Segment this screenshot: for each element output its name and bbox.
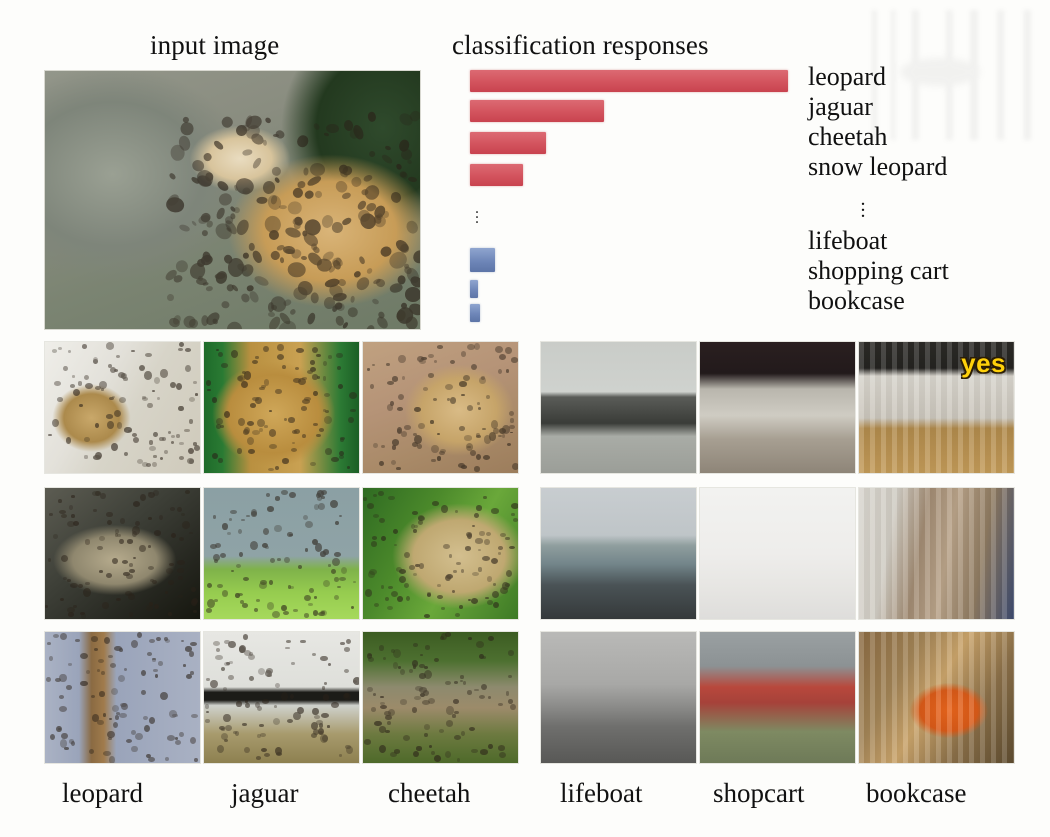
thumbnail-submarine-in-garage: [540, 341, 697, 474]
bar-cheetah: [470, 132, 546, 154]
class-label-cheetah: cheetah: [808, 122, 1048, 152]
class-label-bookcase: bookcase: [808, 286, 1048, 316]
thumbnail-bookcase-with-yes-sign: yes: [858, 341, 1015, 474]
bottom-caption-lifeboat: lifeboat: [560, 778, 642, 809]
thumbnail-jaguar-in-green-foliage: [203, 341, 360, 474]
class-label-lifeboat: lifeboat: [808, 226, 1048, 256]
thumbnail-cheetah-face-close-up: [362, 487, 519, 620]
thumbnail-tall-white-bookshelf: [858, 487, 1015, 620]
thumbnail-grey-boat-on-water: [540, 631, 697, 764]
class-label-leopard: leopard: [808, 62, 1048, 92]
figure-root: input image classification responses ...…: [0, 0, 1050, 837]
thumbnail-cheetah-pair-on-sand: [362, 341, 519, 474]
thumbnail-white-shopping-cart: [699, 487, 856, 620]
spot-texture: [363, 342, 518, 473]
bar-leopard: [470, 70, 788, 92]
thumbnail-leopard-on-tree-trunk: [44, 631, 201, 764]
spot-texture: [45, 632, 200, 763]
classification-bar-chart: [470, 62, 810, 322]
thumbnail-leopard-on-dark-rock: [44, 487, 201, 620]
class-label-column: leopardjaguarcheetahsnow leopard...lifeb…: [808, 62, 1048, 316]
bar-shopping-cart: [470, 280, 478, 298]
spot-texture: [45, 342, 200, 473]
class-label-ellipsis: ...: [808, 196, 918, 214]
input-image-photo: [44, 70, 421, 330]
class-label-shopping-cart: shopping cart: [808, 256, 1048, 286]
spot-texture: [204, 488, 359, 619]
bottom-caption-shopcart: shopcart: [713, 778, 804, 809]
bar-lifeboat: [470, 248, 495, 272]
bottom-caption-bookcase: bookcase: [866, 778, 966, 809]
thumbnail-boat-at-harbor: [540, 487, 697, 620]
thumbnail-cheetah-with-prey: [362, 631, 519, 764]
thumbnail-people-with-red-cart: [699, 631, 856, 764]
bottom-caption-leopard: leopard: [62, 778, 143, 809]
chart-ellipsis: ...: [474, 206, 480, 221]
thumbnail-jaguar-cub-in-grass: [203, 487, 360, 620]
spot-texture: [45, 488, 200, 619]
spot-texture: [363, 488, 518, 619]
bottom-caption-jaguar: jaguar: [231, 778, 298, 809]
class-label-jaguar: jaguar: [808, 92, 1048, 122]
bar-jaguar: [470, 100, 604, 122]
class-label-snow-leopard: snow leopard: [808, 152, 1048, 182]
bottom-caption-cheetah: cheetah: [388, 778, 470, 809]
leopard-spot-texture: [45, 71, 420, 329]
thumbnail-wrecked-cart-by-green-wall: [699, 341, 856, 474]
classification-responses-title: classification responses: [452, 30, 709, 61]
overlay-text-yes: yes: [961, 348, 1006, 379]
thumbnail-leopard-in-tree: [44, 341, 201, 474]
spot-texture: [204, 342, 359, 473]
bar-snow-leopard: [470, 164, 523, 186]
thumbnail-jaguar-on-branch: [203, 631, 360, 764]
spot-texture: [204, 632, 359, 763]
thumbnail-person-at-orange-bookcase: [858, 631, 1015, 764]
bar-bookcase: [470, 304, 480, 322]
input-image-title: input image: [150, 30, 279, 61]
spot-texture: [363, 632, 518, 763]
